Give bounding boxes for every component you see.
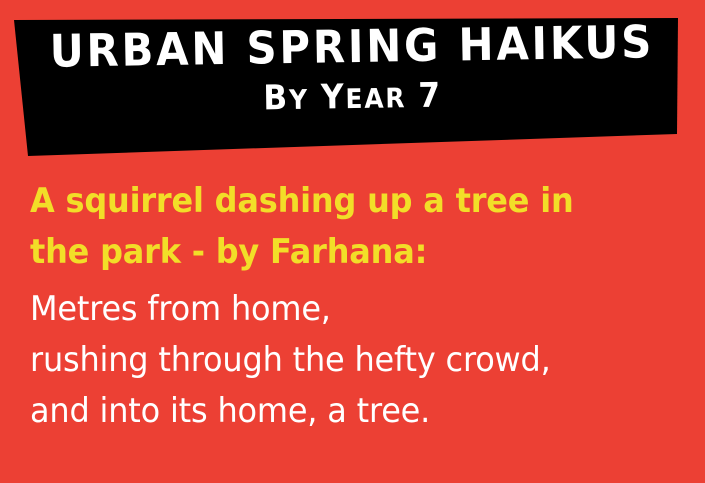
- haiku-line-1: Metres from home,: [30, 284, 641, 335]
- subtitle-year-cap: Y: [321, 77, 346, 117]
- poem-title-line-2: the park - by Farhana:: [30, 227, 641, 278]
- poem-title: A squirrel dashing up a tree in the park…: [30, 176, 680, 278]
- haiku-body: Metres from home, rushing through the he…: [30, 284, 680, 437]
- haiku-line-3: and into its home, a tree.: [30, 386, 641, 437]
- subtitle-year-rest: EAR: [345, 83, 406, 115]
- subtitle-by-cap: B: [263, 78, 289, 118]
- poster-main-title: Urban Spring Haikus: [24, 19, 680, 75]
- poster-subtitle: BY YEAR 7: [28, 75, 677, 122]
- poster-canvas: Urban Spring Haikus BY YEAR 7 A squirrel…: [0, 0, 705, 483]
- poem-title-line-1: A squirrel dashing up a tree in: [30, 176, 641, 227]
- banner-text-group: Urban Spring Haikus BY YEAR 7: [0, 0, 705, 176]
- poem-block: A squirrel dashing up a tree in the park…: [30, 176, 680, 437]
- subtitle-by-rest: Y: [289, 85, 309, 116]
- title-banner: Urban Spring Haikus BY YEAR 7: [0, 0, 705, 170]
- subtitle-year-number: 7: [418, 76, 442, 116]
- haiku-line-2: rushing through the hefty crowd,: [30, 335, 641, 386]
